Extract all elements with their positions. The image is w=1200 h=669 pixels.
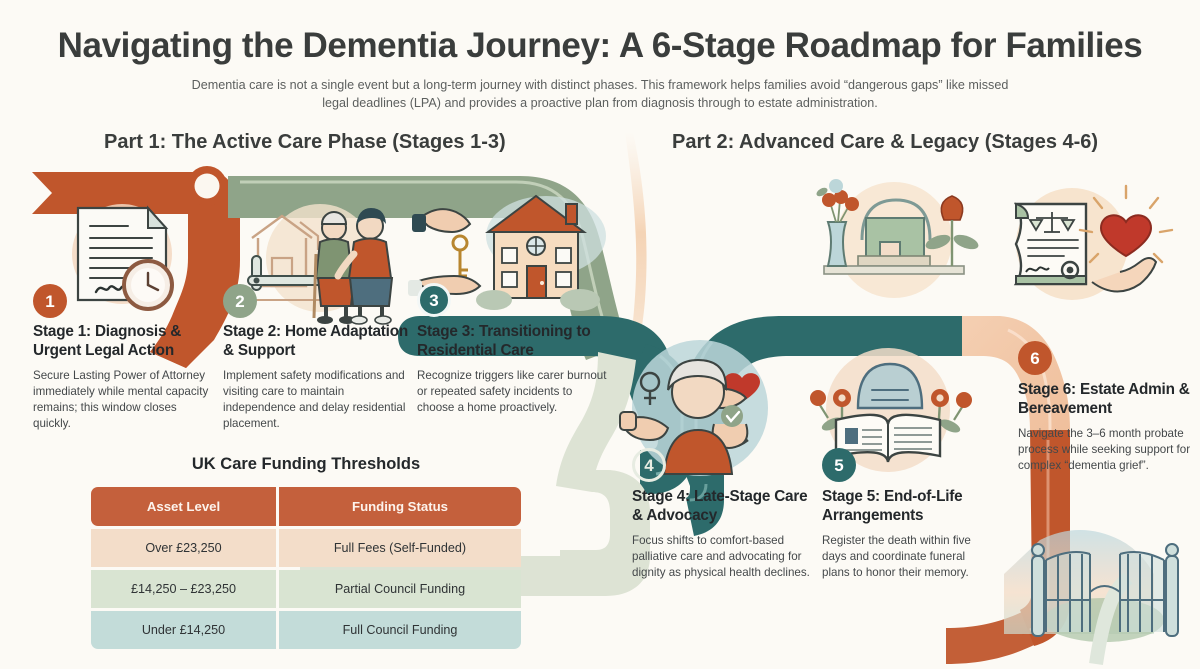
funding-thresholds-panel: UK Care Funding Thresholds Asset Level F…	[88, 455, 524, 652]
infographic-canvas: Navigating the Dementia Journey: A 6-Sta…	[0, 0, 1200, 669]
stage-title-3: Stage 3: Transitioning to Residential Ca…	[417, 323, 607, 361]
page-subtitle: Dementia care is not a single event but …	[185, 76, 1015, 113]
stage-title-1: Stage 1: Diagnosis & Urgent Legal Action	[33, 323, 211, 361]
legal-document-and-clock-illustration	[72, 204, 172, 309]
cell-asset-level: Under £14,250	[91, 611, 276, 649]
stage-title-4: Stage 4: Late-Stage Care & Advocacy	[632, 488, 810, 526]
funding-table: Asset Level Funding Status Over £23,250 …	[88, 484, 524, 652]
table-row: Over £23,250 Full Fees (Self-Funded)	[91, 529, 521, 567]
cell-funding-status: Full Fees (Self-Funded)	[279, 529, 521, 567]
column-header-funding-status: Funding Status	[279, 487, 521, 526]
stage-body-2: Implement safety modifications and visit…	[223, 368, 409, 432]
stage-title-5: Stage 5: End-of-Life Arrangements	[822, 488, 994, 526]
stage-badge-2: 2	[223, 284, 257, 318]
stage-body-4: Focus shifts to comfort-based palliative…	[632, 533, 810, 581]
table-header-row: Asset Level Funding Status	[91, 487, 521, 526]
stage-badge-4: 4	[632, 448, 666, 482]
stage-title-6: Stage 6: Estate Admin & Bereavement	[1018, 381, 1194, 419]
page-title: Navigating the Dementia Journey: A 6-Sta…	[0, 26, 1200, 66]
stage-badge-6: 6	[1018, 341, 1052, 375]
will-scroll-heart-in-hand-illustration	[1016, 186, 1172, 300]
column-header-asset-level: Asset Level	[91, 487, 276, 526]
stage-badge-3: 3	[417, 283, 451, 317]
stage-card-3[interactable]: 3 Stage 3: Transitioning to Residential …	[417, 323, 607, 416]
cell-asset-level: £14,250 – £23,250	[91, 570, 276, 608]
stage-card-2[interactable]: 2 Stage 2: Home Adaptation & Support Imp…	[223, 323, 409, 432]
stage-card-1[interactable]: 1 Stage 1: Diagnosis & Urgent Legal Acti…	[33, 323, 211, 432]
cell-funding-status: Full Council Funding	[279, 611, 521, 649]
stage-card-4[interactable]: 4 Stage 4: Late-Stage Care & Advocacy Fo…	[632, 488, 810, 581]
part-1-heading: Part 1: The Active Care Phase (Stages 1-…	[104, 131, 506, 154]
part-2-heading: Part 2: Advanced Care & Legacy (Stages 4…	[672, 131, 1098, 154]
stage-body-1: Secure Lasting Power of Attorney immedia…	[33, 368, 211, 432]
cell-funding-status: Partial Council Funding	[279, 570, 521, 608]
stage-body-3: Recognize triggers like carer burnout or…	[417, 368, 607, 416]
stage-card-6[interactable]: 6 Stage 6: Estate Admin & Bereavement Na…	[1018, 381, 1194, 474]
cell-asset-level: Over £23,250	[91, 529, 276, 567]
table-row: £14,250 – £23,250 Partial Council Fundin…	[91, 570, 521, 608]
memorial-shelf-illustration	[815, 179, 980, 298]
stage-badge-1: 1	[33, 284, 67, 318]
stage-body-5: Register the death within five days and …	[822, 533, 994, 581]
table-row: Under £14,250 Full Council Funding	[91, 611, 521, 649]
funding-table-title: UK Care Funding Thresholds	[88, 455, 524, 474]
stage-badge-5: 5	[822, 448, 856, 482]
home-adaptation-carer-illustration	[248, 204, 392, 324]
stage-card-5[interactable]: 5 Stage 5: End-of-Life Arrangements Regi…	[822, 488, 994, 581]
stage-title-2: Stage 2: Home Adaptation & Support	[223, 323, 409, 361]
stage-body-6: Navigate the 3–6 month probate process w…	[1018, 426, 1194, 474]
